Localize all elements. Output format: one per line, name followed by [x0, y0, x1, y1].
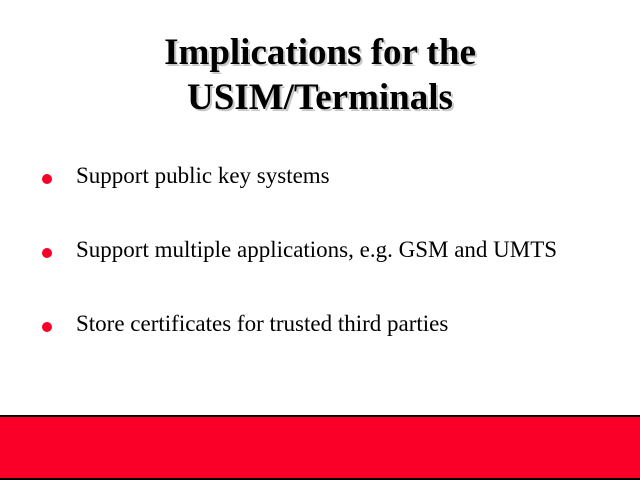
slide-canvas: Implications for the USIM/Terminals Supp… — [0, 0, 640, 480]
red-disc-bullet-icon — [42, 248, 52, 258]
footer-band: 28 Cards North Asia '97, 20 November 199… — [0, 415, 640, 478]
red-disc-bullet-icon — [42, 322, 52, 332]
bullet-text: Store certificates for trusted third par… — [76, 310, 622, 338]
page-title: Implications for the USIM/Terminals — [0, 30, 640, 120]
bullet-list: Support public key systems Support multi… — [42, 162, 622, 384]
list-item: Support multiple applications, e.g. GSM … — [42, 236, 622, 310]
list-item: Store certificates for trusted third par… — [42, 310, 622, 384]
red-disc-bullet-icon — [42, 174, 52, 184]
bullet-text: Support public key systems — [76, 162, 622, 190]
title-line-2: USIM/Terminals — [0, 75, 640, 120]
title-line-1: Implications for the — [0, 30, 640, 75]
bullet-text: Support multiple applications, e.g. GSM … — [76, 236, 622, 264]
list-item: Support public key systems — [42, 162, 622, 236]
